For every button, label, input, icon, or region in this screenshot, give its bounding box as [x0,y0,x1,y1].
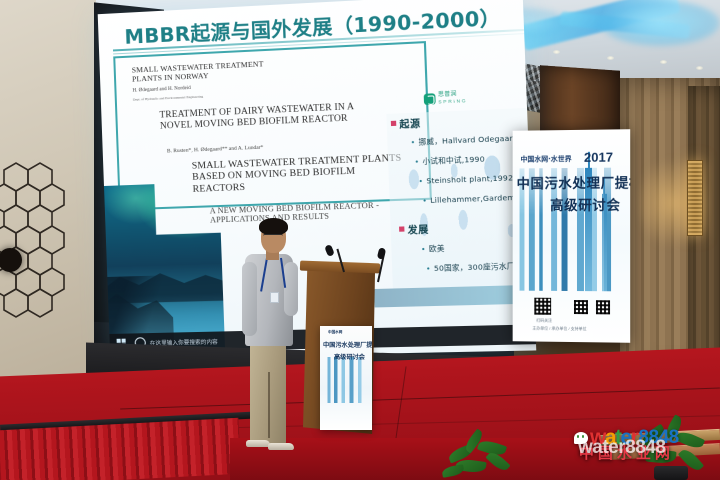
speaker-arm-right [284,262,298,316]
downlight [696,66,703,70]
section-bullet-marker-origin [391,121,396,126]
ceiling-glow [600,0,720,46]
event-banner: 中国水网·水世界 2017 中国污水处理厂提标改造 高级研讨会 主办单位 / 承… [513,129,631,343]
banner-headline: 中国污水处理厂提标改造 [517,171,631,192]
speaker-shoe-right [268,443,294,450]
plant-leaf [441,464,464,478]
qr-code-2 [574,300,588,314]
speaker-shoe-left [246,440,270,447]
plant-pot [654,466,688,480]
section-heading-origin: 起源 [399,116,421,131]
podium-banner-subheadline: 高级研讨会 [334,352,365,361]
speaker-hair [259,218,288,235]
speaker-leg-gap [268,372,270,438]
banner-logo-text: 中国水网·水世界 [521,154,572,164]
banner-footer-text: 主办单位 / 承办单位 / 支持单位 [532,326,586,333]
spring-company-logo: 思普润 SPRING [424,92,468,106]
downlight [607,56,614,60]
speaker-arm-left [242,262,257,336]
banner-year: 2017 [584,150,613,165]
downlight [660,60,667,64]
podium-banner-headline: 中国污水处理厂提标改造 [323,340,372,349]
watermark: w a t e r 8848 中国水业网 water8848 [574,428,679,461]
downlight [553,50,560,54]
speaker-glasses [263,234,283,239]
podium-banner-skyline [323,357,369,403]
podium-banner: 中国水网 中国污水处理厂提标改造 高级研讨会 [320,326,372,430]
wall-sconce [687,160,703,236]
section-bullet-marker-development [399,226,404,231]
banner-subheadline: 高级研讨会 [550,194,620,214]
spring-logo-en: SPRING [438,98,467,105]
slide-bottom-strip [374,285,534,308]
speaker-badge [270,292,279,303]
conference-photo-scene: MBBR起源与国外发展（1990-2000） SMALL WASTEWATER … [0,0,720,480]
development-bullet-1: 欧美 [421,244,445,255]
podium-banner-logo: 中国水网 [328,330,342,335]
qr-label: 扫码关注 [536,318,552,324]
hexagon-wall-art [0,150,94,340]
plant-leaf [675,429,705,451]
section-heading-development: 发展 [407,222,429,237]
spring-logo-icon [424,93,436,105]
decorative-plant-center [438,432,528,480]
qr-code-3 [596,300,610,314]
watermark-ghost-text: water8848 [578,437,665,459]
mountain-ridge [103,263,223,303]
qr-code [534,298,551,315]
